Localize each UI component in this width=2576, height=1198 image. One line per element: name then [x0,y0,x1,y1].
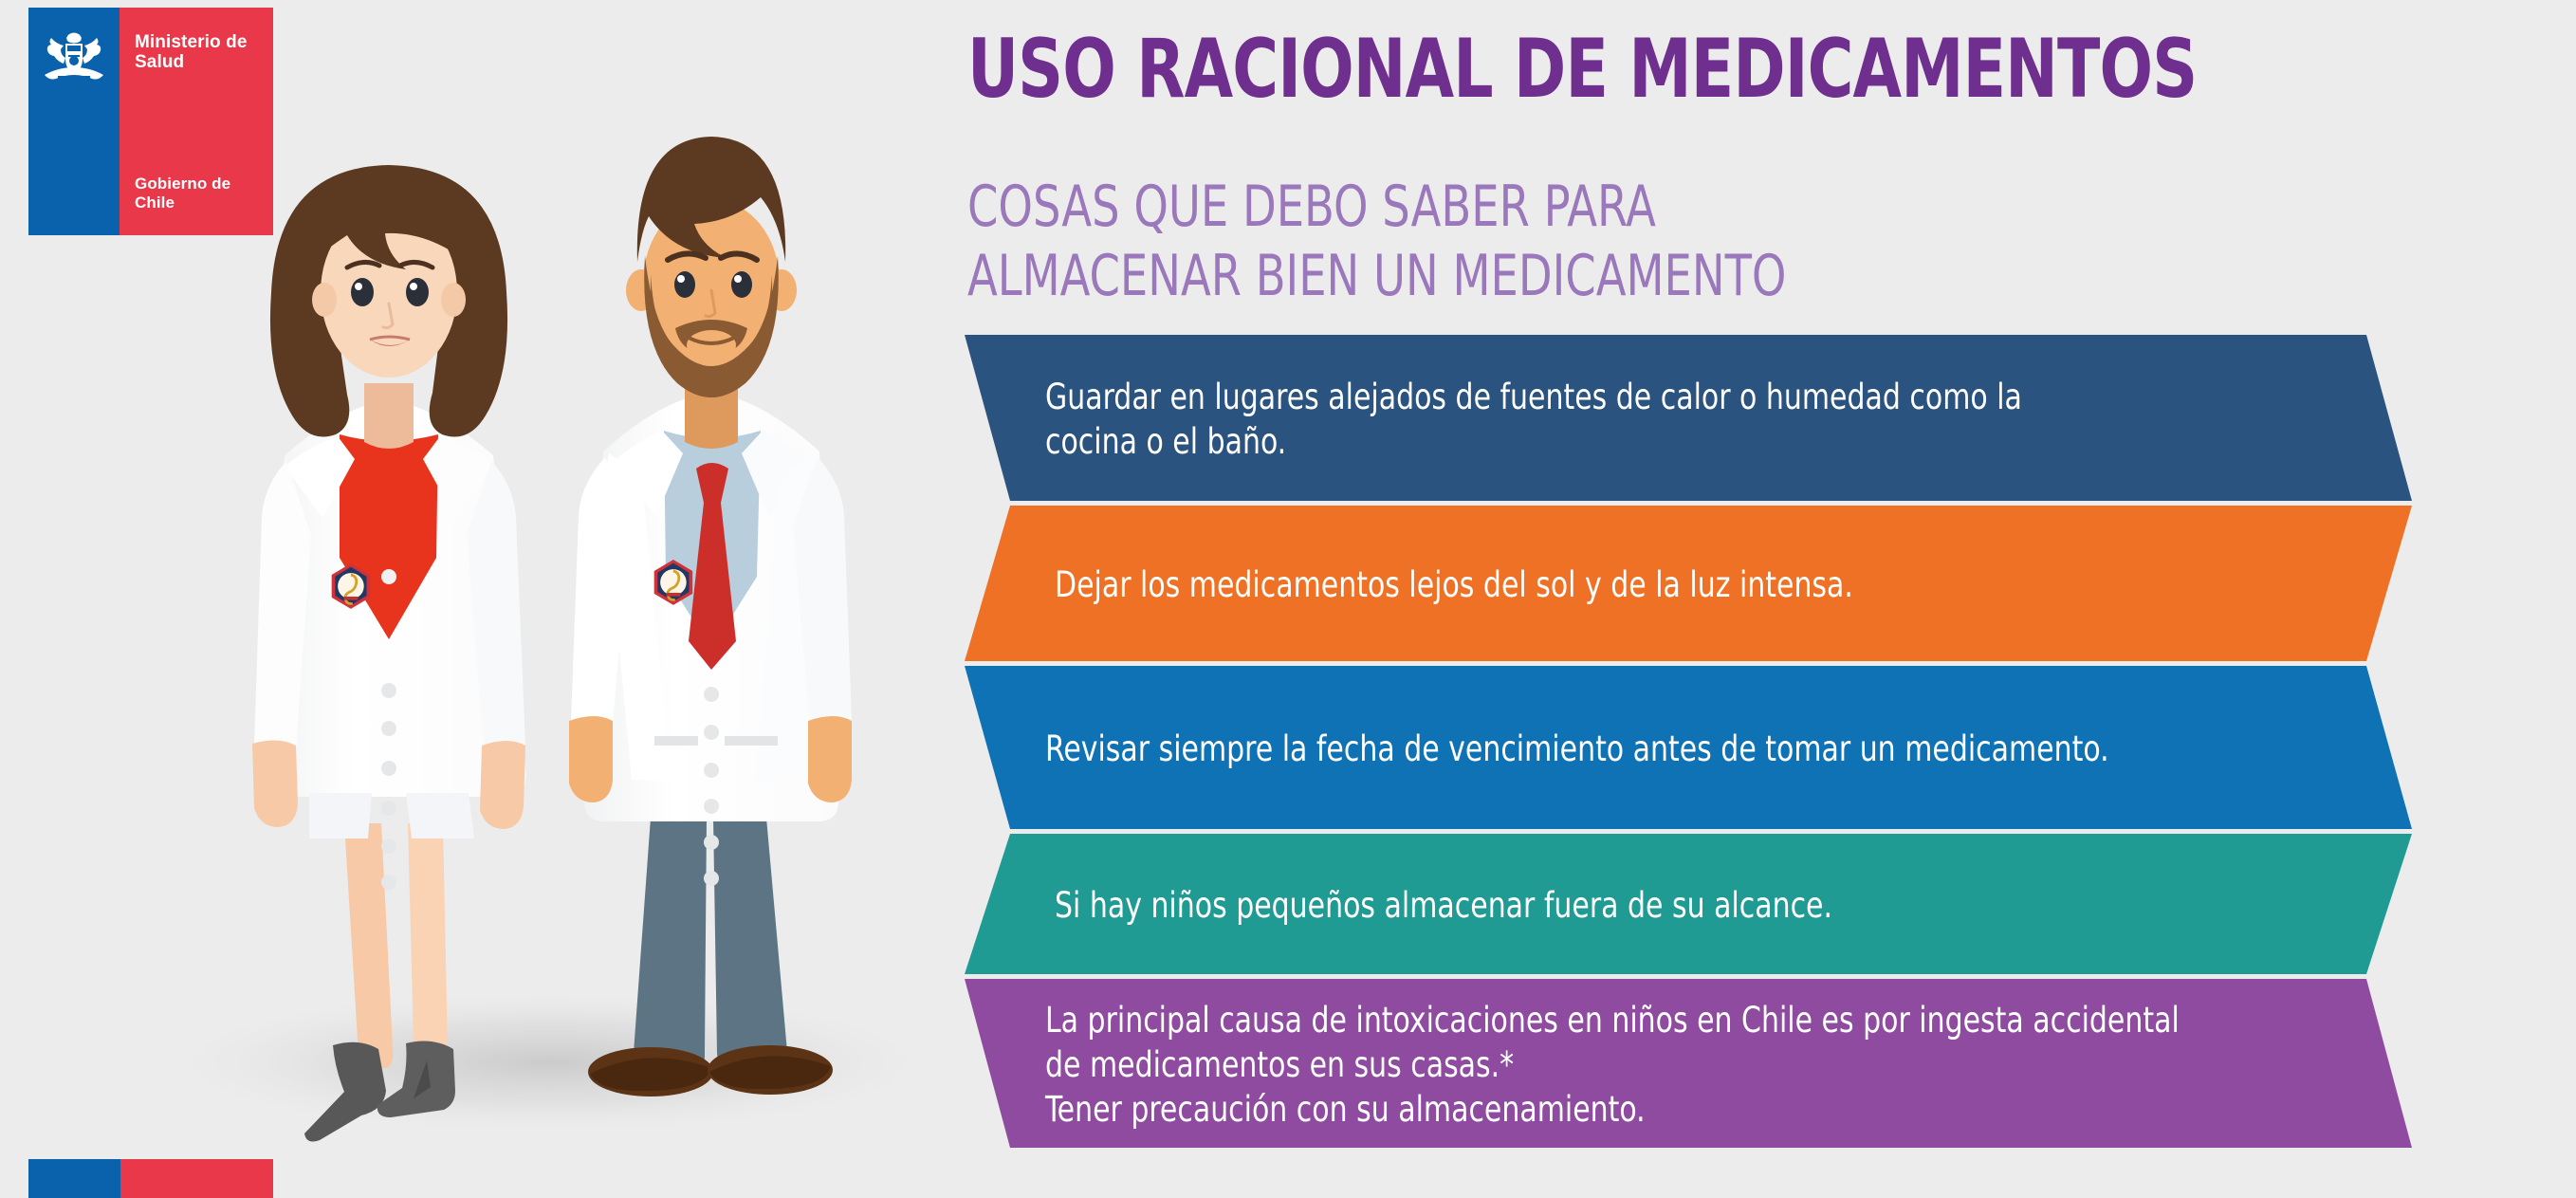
tips-banner-list: Guardar en lugares alejados de fuentes d… [0,0,2576,1198]
infographic-canvas: Ministerio de Salud Gobierno de Chile US… [0,0,2576,1198]
flag-blue-segment [28,1159,120,1198]
flag-red-segment [120,1159,273,1198]
banner-poisoning-warning[interactable]: La principal causa de intoxicaciones en … [0,0,2576,1198]
chile-flag-bar [28,1159,273,1198]
banner-poisoning-warning-text: La principal causa de intoxicaciones en … [1045,998,2238,1133]
